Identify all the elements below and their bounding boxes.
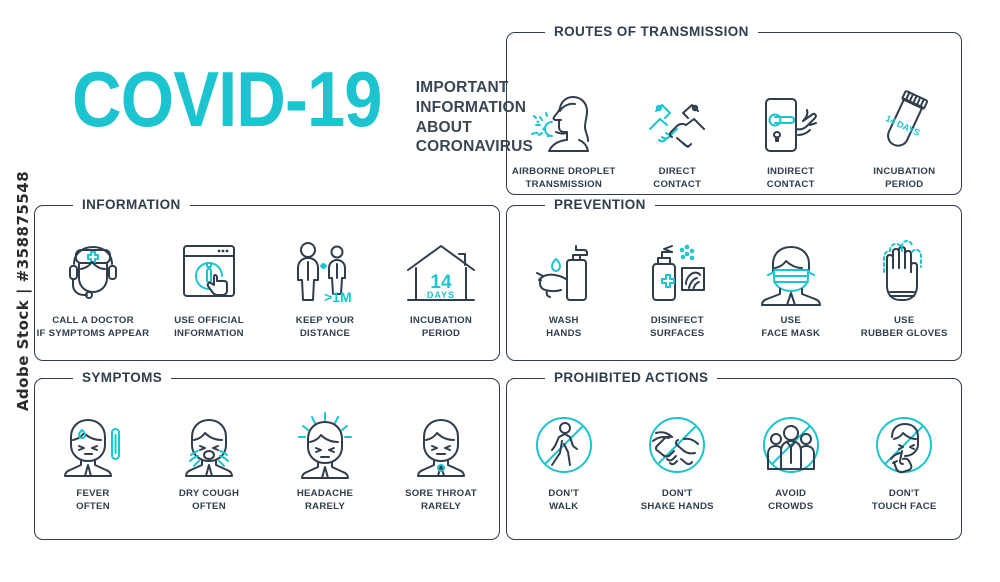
caption-line-2: HANDS xyxy=(546,328,581,341)
item-indirect-contact[interactable]: INDIRECT CONTACT xyxy=(734,85,848,191)
rubber-glove-icon xyxy=(871,234,937,306)
panel-legend: SYMPTOMS xyxy=(73,370,171,385)
item-use-official-information[interactable]: USE OFFICIAL INFORMATION xyxy=(151,234,267,340)
caption-line-2: INFORMATION xyxy=(174,328,244,341)
caption-line-2: CONTACT xyxy=(653,179,701,192)
item-use-face-mask[interactable]: USE FACE MASK xyxy=(734,234,848,340)
caption-line-2: SHAKE HANDS xyxy=(641,501,714,514)
item-caption: DON'T TOUCH FACE xyxy=(872,488,937,513)
item-caption: SORE THROAT RARELY xyxy=(405,488,477,513)
caption-line-2: RARELY xyxy=(405,501,477,514)
panel-symptoms: SYMPTOMS FE xyxy=(34,378,500,540)
caption-line-1: DON'T xyxy=(548,488,579,499)
item-dont-shake-hands[interactable]: DON'T SHAKE HANDS xyxy=(621,407,735,513)
item-caption: DON'T WALK xyxy=(548,488,579,513)
panel-routes-of-transmission: ROUTES OF TRANSMISSION xyxy=(506,32,962,195)
house-quarantine-icon: 14 DAYS xyxy=(404,234,478,306)
caption-line-2: SURFACES xyxy=(650,328,704,341)
infographic-canvas: Adobe Stock | #358875548 COVID-19 IMPORT… xyxy=(0,0,1000,582)
header: COVID-19 IMPORTANT INFORMATION ABOUT COR… xyxy=(72,68,533,157)
panel-items: CALL A DOCTOR IF SYMPTOMS APPEAR xyxy=(35,234,499,340)
caption-line-2: PERIOD xyxy=(410,328,472,341)
caption-line-2: IF SYMPTOMS APPEAR xyxy=(37,328,150,341)
test-tube-icon: 14 DAYS xyxy=(869,85,939,157)
caption-line-2: TOUCH FACE xyxy=(872,501,937,514)
caption-line-1: INCUBATION xyxy=(410,315,472,326)
item-avoid-crowds[interactable]: AVOID CROWDS xyxy=(734,407,848,513)
item-call-a-doctor[interactable]: CALL A DOCTOR IF SYMPTOMS APPEAR xyxy=(35,234,151,340)
item-caption: INCUBATION PERIOD xyxy=(410,315,472,340)
panel-legend: INFORMATION xyxy=(73,197,190,212)
item-dont-walk[interactable]: DON'T WALK xyxy=(507,407,621,513)
panel-items: FEVER OFTEN xyxy=(35,407,499,513)
item-airborne-droplet-transmission[interactable]: AIRBORNE DROPLET TRANSMISSION xyxy=(507,85,621,191)
caption-line-1: USE xyxy=(781,315,801,326)
caption-line-1: KEEP YOUR xyxy=(296,315,354,326)
item-caption: DON'T SHAKE HANDS xyxy=(641,488,714,513)
no-walking-icon xyxy=(530,407,598,479)
panel-legend: PREVENTION xyxy=(545,197,655,212)
nurse-headset-icon xyxy=(60,234,126,306)
social-distance-icon: >1M xyxy=(290,234,360,306)
item-dont-touch-face[interactable]: DON'T TOUCH FACE xyxy=(848,407,962,513)
caption-line-1: CALL A DOCTOR xyxy=(52,315,134,326)
caption-line-1: AIRBORNE DROPLET xyxy=(512,166,616,177)
page-title: COVID-19 xyxy=(72,68,382,132)
item-caption: KEEP YOUR DISTANCE xyxy=(296,315,354,340)
caption-line-1: DON'T xyxy=(889,488,920,499)
item-caption: USE OFFICIAL INFORMATION xyxy=(174,315,244,340)
item-fever[interactable]: FEVER OFTEN xyxy=(35,407,151,513)
house-badge-unit: DAYS xyxy=(427,290,455,300)
item-caption: DRY COUGH OFTEN xyxy=(179,488,239,513)
caption-line-1: FEVER xyxy=(76,488,109,499)
caption-line-2: OFTEN xyxy=(76,501,110,514)
watermark-text: Adobe Stock | #358875548 xyxy=(14,171,32,411)
caption-line-1: DIRECT xyxy=(659,166,696,177)
fever-thermometer-icon xyxy=(58,407,128,479)
item-sore-throat[interactable]: SORE THROAT RARELY xyxy=(383,407,499,513)
caption-line-1: USE xyxy=(894,315,914,326)
item-wash-hands[interactable]: WASH HANDS xyxy=(507,234,621,340)
item-caption: FEVER OFTEN xyxy=(76,488,110,513)
item-caption: INDIRECT CONTACT xyxy=(767,166,815,191)
item-caption: CALL A DOCTOR IF SYMPTOMS APPEAR xyxy=(37,315,150,340)
no-touch-face-icon xyxy=(870,407,938,479)
caption-line-1: INDIRECT xyxy=(767,166,814,177)
panel-items: DON'T WALK xyxy=(507,407,961,513)
caption-line-2: WALK xyxy=(548,501,579,514)
panel-items: AIRBORNE DROPLET TRANSMISSION xyxy=(507,85,961,191)
caption-line-1: SORE THROAT xyxy=(405,488,477,499)
item-caption: WASH HANDS xyxy=(546,315,581,340)
caption-line-1: WASH xyxy=(549,315,579,326)
panel-prevention: PREVENTION xyxy=(506,205,962,361)
caption-line-1: DRY COUGH xyxy=(179,488,239,499)
caption-line-1: AVOID xyxy=(775,488,806,499)
spray-bottle-icon xyxy=(640,234,714,306)
handshake-icon xyxy=(642,85,712,157)
sore-throat-icon xyxy=(406,407,476,479)
caption-line-2: TRANSMISSION xyxy=(512,179,616,192)
caption-line-2: CONTACT xyxy=(767,179,815,192)
item-caption: AIRBORNE DROPLET TRANSMISSION xyxy=(512,166,616,191)
caption-line-2: OFTEN xyxy=(179,501,239,514)
item-caption: USE FACE MASK xyxy=(761,315,820,340)
caption-line-1: USE OFFICIAL xyxy=(174,315,244,326)
item-incubation-period-tube[interactable]: 14 DAYS INCUBATION PERIOD xyxy=(848,85,962,191)
panel-items: WASH HANDS xyxy=(507,234,961,340)
item-caption: USE RUBBER GLOVES xyxy=(861,315,948,340)
panel-prohibited-actions: PROHIBITED ACTIONS DON'T xyxy=(506,378,962,540)
item-use-rubber-gloves[interactable]: USE RUBBER GLOVES xyxy=(848,234,962,340)
soap-dispenser-icon xyxy=(529,234,599,306)
door-handle-icon xyxy=(758,85,824,157)
item-disinfect-surfaces[interactable]: DISINFECT SURFACES xyxy=(621,234,735,340)
item-caption: INCUBATION PERIOD xyxy=(873,166,935,191)
sneezing-man-icon xyxy=(526,85,602,157)
caption-line-1: HEADACHE xyxy=(297,488,353,499)
caption-line-1: INCUBATION xyxy=(873,166,935,177)
item-keep-your-distance[interactable]: >1M KEEP YOUR DISTANCE xyxy=(267,234,383,340)
dry-cough-icon xyxy=(174,407,244,479)
item-headache[interactable]: HEADACHE RARELY xyxy=(267,407,383,513)
caption-line-2: RUBBER GLOVES xyxy=(861,328,948,341)
browser-info-icon xyxy=(176,234,242,306)
caption-line-1: DON'T xyxy=(662,488,693,499)
caption-line-2: CROWDS xyxy=(768,501,813,514)
item-caption: DISINFECT SURFACES xyxy=(650,315,704,340)
item-dry-cough[interactable]: DRY COUGH OFTEN xyxy=(151,407,267,513)
caption-line-2: PERIOD xyxy=(873,179,935,192)
item-caption: HEADACHE RARELY xyxy=(297,488,353,513)
distance-badge-text: >1M xyxy=(324,289,352,305)
caption-line-2: DISTANCE xyxy=(296,328,354,341)
caption-line-2: RARELY xyxy=(297,501,353,514)
panel-information: INFORMATION xyxy=(34,205,500,361)
face-mask-icon xyxy=(756,234,826,306)
panel-legend: ROUTES OF TRANSMISSION xyxy=(545,24,758,39)
item-caption: DIRECT CONTACT xyxy=(653,166,701,191)
no-handshake-icon xyxy=(643,407,711,479)
item-caption: AVOID CROWDS xyxy=(768,488,813,513)
item-direct-contact[interactable]: DIRECT CONTACT xyxy=(621,85,735,191)
item-incubation-period-house[interactable]: 14 DAYS INCUBATION PERIOD xyxy=(383,234,499,340)
tube-badge-text: 14 DAYS xyxy=(884,113,921,138)
caption-line-2: FACE MASK xyxy=(761,328,820,341)
headache-icon xyxy=(290,407,360,479)
no-crowds-icon xyxy=(757,407,825,479)
panel-legend: PROHIBITED ACTIONS xyxy=(545,370,717,385)
caption-line-1: DISINFECT xyxy=(651,315,704,326)
